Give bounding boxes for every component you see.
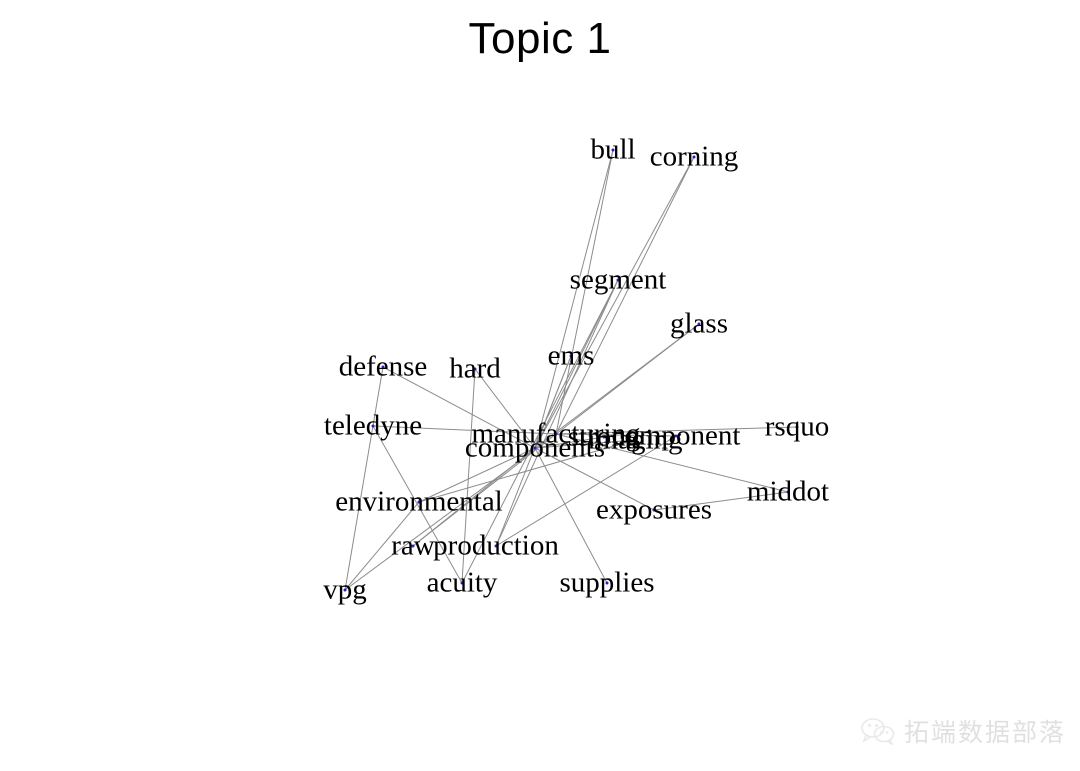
network-node-label-segment[interactable]: segment [570,266,667,295]
network-node-layer: bullcorningsegmentglassdefensehardemstel… [0,0,1080,771]
network-node-label-production[interactable]: production [433,532,559,561]
network-node-label-supplies[interactable]: supplies [559,569,654,598]
wechat-icon [861,718,895,745]
watermark-text: 拓端数据部落 [904,713,1066,749]
network-plot: Topic 1 bullcorningsegmentglassdefenseha… [0,0,1080,771]
network-node-label-acuity[interactable]: acuity [427,569,498,598]
network-node-label-middot[interactable]: middot [747,478,829,507]
network-node-label-bull[interactable]: bull [590,136,635,165]
network-node-label-environmental[interactable]: environmental [335,488,503,517]
network-node-label-rsquo[interactable]: rsquo [765,413,829,442]
network-node-label-component[interactable]: component [612,422,741,451]
network-node-label-teledyne[interactable]: teledyne [324,412,422,441]
network-node-label-vpg[interactable]: vpg [323,576,367,605]
network-node-label-ems[interactable]: ems [548,342,595,371]
network-node-label-hard[interactable]: hard [449,355,501,384]
network-node-label-corning[interactable]: corning [650,143,739,172]
network-node-label-raw[interactable]: raw [391,532,434,561]
watermark: 拓端数据部落 [861,713,1066,749]
network-node-label-exposures[interactable]: exposures [596,496,712,525]
network-node-label-defense[interactable]: defense [339,353,428,382]
network-node-label-glass[interactable]: glass [670,310,728,339]
